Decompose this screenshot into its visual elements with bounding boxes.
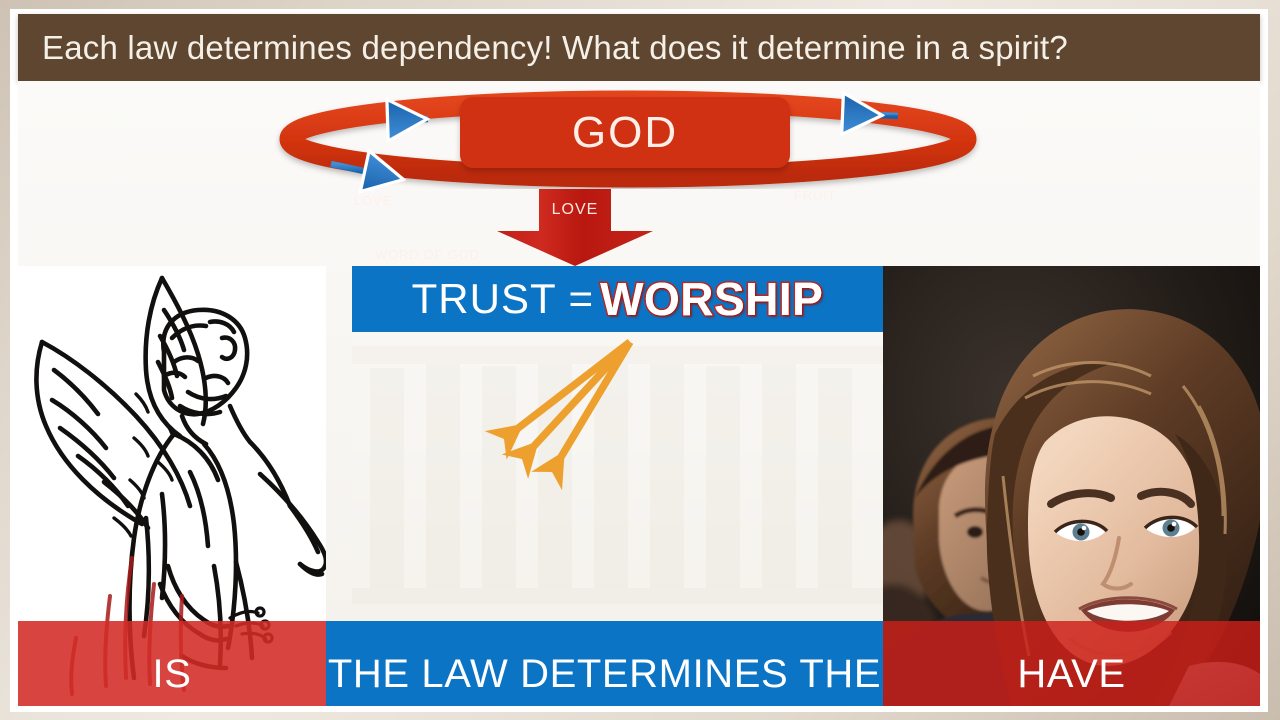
trust-banner-prefix: TRUST =: [412, 275, 594, 322]
ring-blue-arrows: [273, 89, 983, 199]
slide-body: GOD: [18, 81, 1260, 706]
arrow-love: [396, 119, 428, 120]
slide-title: Each law determines dependency! What doe…: [42, 29, 1068, 67]
slide-canvas: Each law determines dependency! What doe…: [10, 9, 1268, 712]
middle-body-panel: [352, 332, 883, 621]
caption-right: HAVE A SPIRIT: [883, 621, 1260, 706]
love-down-arrow-label: LOVE: [491, 201, 659, 219]
slide-frame: Each law determines dependency! What doe…: [0, 0, 1280, 720]
title-bar: Each law determines dependency! What doe…: [18, 14, 1260, 81]
caption-middle-line1: THE LAW DETERMINES THE: [328, 649, 881, 700]
trust-banner-emphasis: WORSHIP: [600, 273, 823, 325]
trust-worship-banner: TRUST =WORSHIP: [352, 266, 883, 332]
caption-left-line2: A SPIRIT: [87, 700, 256, 707]
caption-right-line2: A SPIRIT: [987, 700, 1156, 707]
ring-label-fruit: FRUIT: [794, 188, 836, 203]
god-cycle-diagram: GOD: [18, 81, 1260, 266]
caption-right-line1: HAVE: [987, 649, 1156, 700]
ring-label-word-of-god: WORD OF GOD: [375, 247, 480, 262]
arrow-word-of-god: [331, 164, 373, 173]
caption-middle: THE LAW DETERMINES THE SOURCE AND THE ME…: [326, 621, 883, 706]
orange-arrow-2: [522, 342, 630, 459]
caption-left-line1: IS: [87, 649, 256, 700]
arrow-fruit: [851, 114, 898, 116]
ring-label-love: LOVE: [354, 193, 392, 208]
caption-left: IS A SPIRIT: [18, 621, 326, 706]
love-down-arrow: LOVE: [491, 189, 659, 267]
orange-arrow-1: [504, 342, 630, 439]
orange-arrow-3: [552, 342, 630, 472]
caption-middle-line2: SOURCE AND THE MEANS: [328, 700, 881, 707]
caption-row: IS A SPIRIT THE LAW DETERMINES THE SOURC…: [18, 621, 1260, 706]
orange-arrow-group: [352, 332, 883, 621]
